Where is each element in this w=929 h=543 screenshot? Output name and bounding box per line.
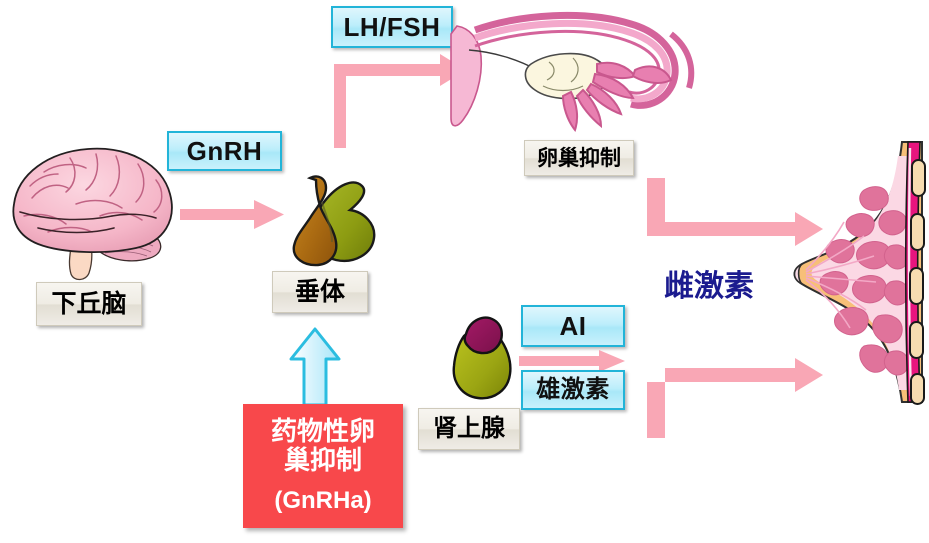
pituitary-gland-illustration <box>272 172 382 272</box>
breast-cross-section-illustration <box>790 138 929 406</box>
treatment-line-1: 药物性卵 <box>271 417 375 446</box>
adrenal-label: 肾上腺 <box>418 408 520 450</box>
drug-ovarian-suppression-box: 药物性卵 巢抑制 (GnRHa) <box>243 404 403 528</box>
brain-illustration <box>4 142 186 282</box>
treatment-line-2: 巢抑制 <box>284 446 362 475</box>
estrogen-label-text: 雌激素 <box>664 270 754 303</box>
gnrh-label: GnRH <box>167 131 282 171</box>
diagram-canvas: 下丘脑 GnRH 垂体 LH/FSH <box>0 0 929 543</box>
ovary-suppression-label: 卵巢抑制 <box>524 140 634 176</box>
ai-label-text: AI <box>560 313 587 339</box>
arrow-gnrha-to-pituitary <box>289 326 343 408</box>
pituitary-label-text: 垂体 <box>295 280 345 305</box>
adrenal-label-text: 肾上腺 <box>433 417 505 441</box>
adrenal-gland-illustration <box>442 312 526 408</box>
uterus-ovary-illustration <box>445 8 695 148</box>
androgen-label-text: 雄激素 <box>536 378 610 402</box>
estrogen-label: 雌激素 <box>664 272 754 302</box>
ai-label: AI <box>521 305 625 347</box>
gnrh-label-text: GnRH <box>187 138 263 164</box>
androgen-label: 雄激素 <box>521 370 625 410</box>
treatment-line-3: (GnRHa) <box>274 487 371 515</box>
ovary-suppression-label-text: 卵巢抑制 <box>537 148 621 169</box>
arrow-hypothalamus-to-pituitary <box>180 198 286 232</box>
pituitary-label: 垂体 <box>272 271 368 313</box>
lh-fsh-label: LH/FSH <box>331 6 453 48</box>
lh-fsh-label-text: LH/FSH <box>344 14 441 40</box>
hypothalamus-label-text: 下丘脑 <box>51 292 126 317</box>
hypothalamus-label: 下丘脑 <box>36 282 142 326</box>
